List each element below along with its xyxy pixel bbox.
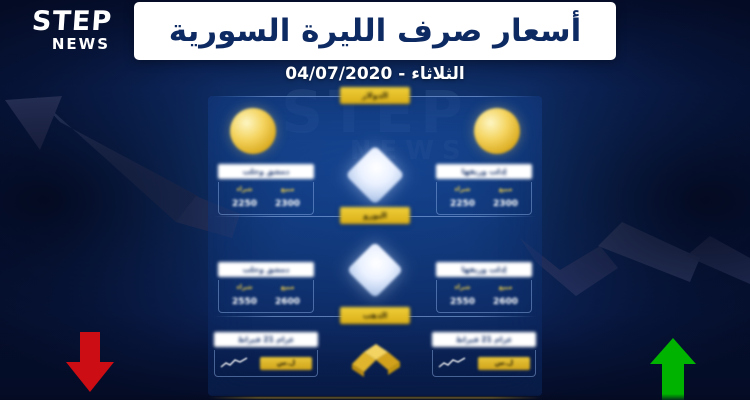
rate-panel-title: دمشق وحلب xyxy=(218,164,314,179)
section-chip-label: الدولار xyxy=(340,87,410,104)
rate-panel-title: إدلب وريفها xyxy=(436,262,532,277)
rate-panel-body: شراء 2550 مبيع 2600 xyxy=(218,280,314,313)
gold-coin-icon-right xyxy=(474,108,520,154)
gold-panel-title: غرام 21 قيراط xyxy=(432,332,536,347)
rate-cell-value: 2550 xyxy=(444,297,482,307)
gold-bars-icon xyxy=(346,338,404,378)
rate-cell: شراء 2550 xyxy=(226,283,264,307)
sparkline-icon xyxy=(220,357,248,369)
sparkline-icon xyxy=(438,357,466,369)
step-news-logo: STEP NEWS xyxy=(8,6,112,54)
diamond-emblem-icon-primary xyxy=(345,145,404,204)
section-gold: الذهب غرام 21 قيراط ل.س xyxy=(208,316,542,396)
rate-cell-value: 2250 xyxy=(226,199,264,209)
rate-cell-header: مبيع xyxy=(269,283,307,291)
rate-cell-header: شراء xyxy=(226,185,264,193)
rate-panel-right-primary: إدلب وريفها شراء 2250 مبيع 2300 xyxy=(436,164,532,215)
rate-panel-body: شراء 2250 مبيع 2300 xyxy=(218,182,314,215)
diamond-emblem-icon-secondary xyxy=(347,242,404,299)
gold-value-chip: ل.س xyxy=(478,357,530,370)
rate-cell: شراء 2250 xyxy=(226,185,264,209)
rate-cell: مبيع 2600 xyxy=(269,283,307,307)
rate-panel-body: شراء 2250 مبيع 2300 xyxy=(436,182,532,215)
rate-cell-value: 2300 xyxy=(269,199,307,209)
rate-cell-value: 2300 xyxy=(487,199,525,209)
bottom-band xyxy=(0,394,750,400)
logo-main-text: STEP xyxy=(31,8,113,35)
rate-cell-value: 2600 xyxy=(269,297,307,307)
section-currency-primary: الدولار دمشق وحلب شراء 2250 مبيع 2300 xyxy=(208,96,542,216)
rate-panel-body: شراء 2550 مبيع 2600 xyxy=(436,280,532,313)
section-chip-label: الذهب xyxy=(340,307,410,324)
rate-cell-header: شراء xyxy=(226,283,264,291)
rate-cell: مبيع 2300 xyxy=(269,185,307,209)
rate-cell-header: مبيع xyxy=(269,185,307,193)
logo-sub-text: NEWS xyxy=(52,37,110,52)
rate-panel-title: إدلب وريفها xyxy=(436,164,532,179)
rate-cell-value: 2250 xyxy=(444,199,482,209)
section-currency-secondary: اليورو دمشق وحلب شراء 2550 مبيع 2600 إدل… xyxy=(208,216,542,316)
gold-panel-title: غرام 21 قيراط xyxy=(214,332,318,347)
gold-panel-body: ل.س xyxy=(214,350,318,377)
up-arrow-icon xyxy=(648,338,698,400)
gold-coin-icon-left xyxy=(230,108,276,154)
rate-cell: مبيع 2300 xyxy=(487,185,525,209)
gold-panel-right: غرام 21 قيراط ل.س xyxy=(432,332,536,377)
date-line: الثلاثاء - 04/07/2020 xyxy=(0,64,750,84)
rate-cell: مبيع 2600 xyxy=(487,283,525,307)
title-plate: أسعار صرف الليرة السورية xyxy=(134,2,616,60)
rate-panel-left-primary: دمشق وحلب شراء 2250 مبيع 2300 xyxy=(218,164,314,215)
section-chip-label: اليورو xyxy=(340,207,410,224)
rate-cell-header: مبيع xyxy=(487,283,525,291)
down-arrow-icon xyxy=(58,332,122,394)
rate-cell-value: 2550 xyxy=(226,297,264,307)
rate-panel-left-secondary: دمشق وحلب شراء 2550 مبيع 2600 xyxy=(218,262,314,313)
rate-cell-value: 2600 xyxy=(487,297,525,307)
rate-cell-header: شراء xyxy=(444,185,482,193)
gold-panel-left: غرام 21 قيراط ل.س xyxy=(214,332,318,377)
rate-cell-header: مبيع xyxy=(487,185,525,193)
rates-card: الدولار دمشق وحلب شراء 2250 مبيع 2300 xyxy=(208,96,542,396)
page-title: أسعار صرف الليرة السورية xyxy=(169,13,581,49)
gold-value-chip: ل.س xyxy=(260,357,312,370)
rate-cell: شراء 2550 xyxy=(444,283,482,307)
rate-panel-title: دمشق وحلب xyxy=(218,262,314,277)
rate-cell: شراء 2250 xyxy=(444,185,482,209)
rate-cell-header: شراء xyxy=(444,283,482,291)
infographic-canvas: STEP NEWS STEP NEWS أسعار صرف الليرة الس… xyxy=(0,0,750,400)
gold-panel-body: ل.س xyxy=(432,350,536,377)
rate-panel-right-secondary: إدلب وريفها شراء 2550 مبيع 2600 xyxy=(436,262,532,313)
